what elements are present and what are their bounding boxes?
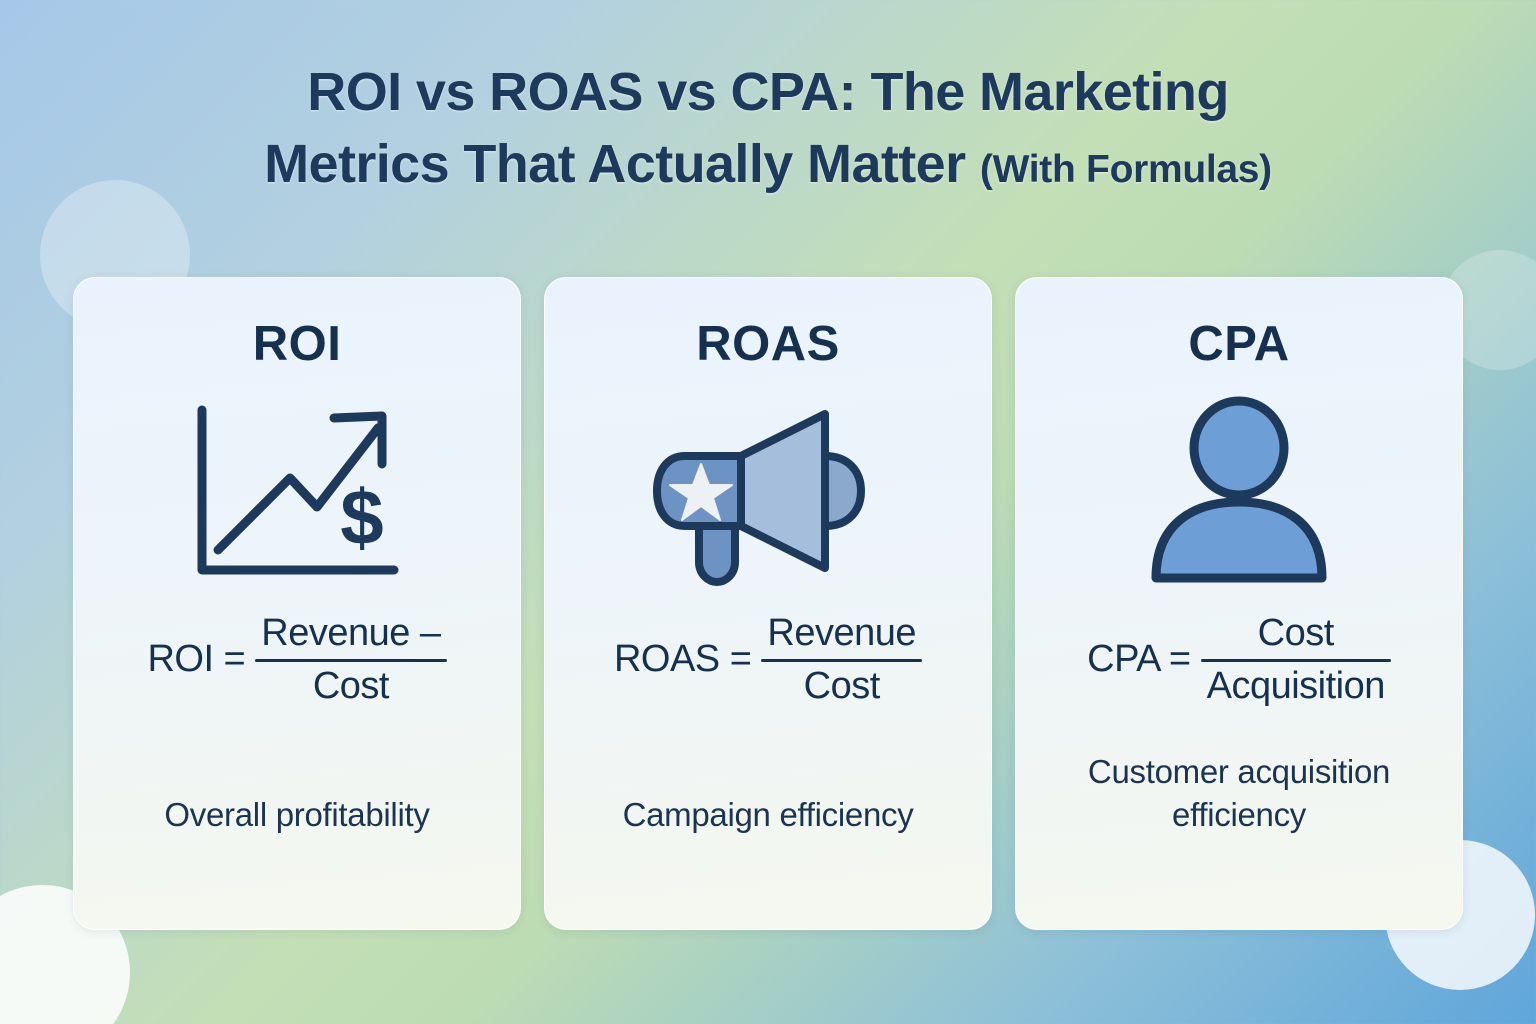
fraction-bar bbox=[1201, 659, 1391, 662]
metric-formula: ROI = Revenue – Cost bbox=[100, 613, 494, 707]
metric-card-title: CPA bbox=[1188, 316, 1289, 372]
metric-formula: ROAS = Revenue Cost bbox=[571, 613, 965, 707]
page-title: ROI vs ROAS vs CPA: The Marketing Metric… bbox=[0, 56, 1536, 201]
metric-card-cpa[interactable]: CPA CPA = Cost Acquisition Customer acqu… bbox=[1015, 277, 1463, 930]
formula-fraction: Revenue Cost bbox=[761, 613, 922, 707]
person-icon bbox=[1042, 384, 1436, 599]
formula-fraction: Revenue – Cost bbox=[255, 613, 446, 707]
metric-formula: CPA = Cost Acquisition bbox=[1042, 613, 1436, 707]
formula-left-side: ROAS = bbox=[614, 638, 751, 683]
metric-cards-row: ROI $ ROI = Revenue – Cost Overall profi… bbox=[73, 277, 1463, 930]
fraction-bar bbox=[761, 659, 922, 662]
formula-left-side: CPA = bbox=[1087, 638, 1190, 683]
growth-chart-dollar-icon: $ bbox=[100, 384, 494, 599]
metric-description: Campaign efficiency bbox=[623, 794, 914, 837]
metric-description: Customer acquisition efficiency bbox=[1049, 751, 1429, 837]
metric-card-roas[interactable]: ROAS ROAS = Revenue bbox=[544, 277, 992, 930]
formula-numerator: Revenue bbox=[761, 613, 922, 654]
page-title-line2: Metrics That Actually Matter bbox=[264, 134, 965, 194]
megaphone-icon bbox=[571, 384, 965, 599]
page-title-suffix: (With Formulas) bbox=[980, 148, 1272, 191]
metric-card-title: ROAS bbox=[696, 316, 840, 372]
formula-fraction: Cost Acquisition bbox=[1201, 613, 1391, 707]
formula-numerator: Cost bbox=[1252, 613, 1340, 654]
formula-denominator: Cost bbox=[798, 666, 886, 707]
fraction-bar bbox=[255, 659, 446, 662]
formula-left-side: ROI = bbox=[147, 638, 245, 683]
formula-denominator: Cost bbox=[307, 666, 395, 707]
metric-card-roi[interactable]: ROI $ ROI = Revenue – Cost Overall profi… bbox=[73, 277, 521, 930]
formula-numerator: Revenue – bbox=[255, 613, 446, 654]
formula-denominator: Acquisition bbox=[1201, 666, 1391, 707]
svg-text:$: $ bbox=[340, 473, 383, 561]
page-title-line1: ROI vs ROAS vs CPA: The Marketing bbox=[307, 62, 1228, 122]
metric-card-title: ROI bbox=[253, 316, 342, 372]
metric-description: Overall profitability bbox=[164, 794, 429, 837]
